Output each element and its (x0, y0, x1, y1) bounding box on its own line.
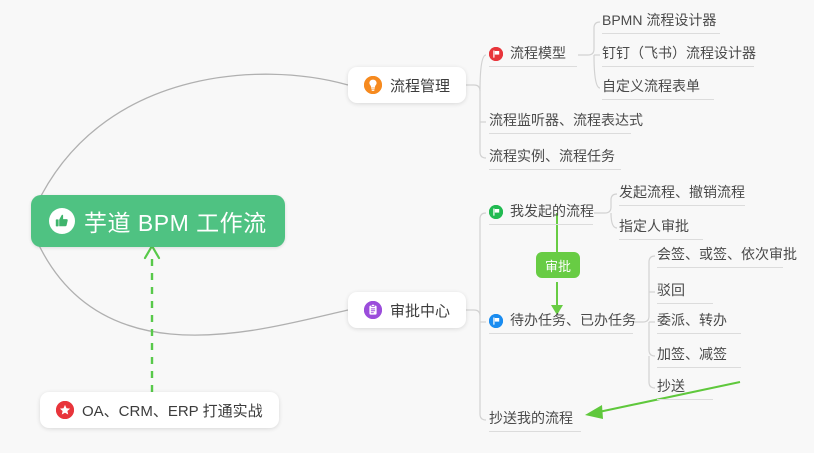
branch-label: 流程管理 (390, 75, 450, 96)
node-process-model[interactable]: 流程模型 (489, 45, 577, 67)
node-todo-done-tasks[interactable]: 待办任务、已办任务 (489, 312, 633, 334)
node-label: 加签、减签 (657, 346, 727, 363)
node-process-instance-task[interactable]: 流程实例、流程任务 (489, 148, 621, 170)
annotation-approval-chip: 审批 (536, 252, 580, 278)
node-label: 我发起的流程 (510, 203, 594, 220)
branch-process-management[interactable]: 流程管理 (348, 67, 466, 103)
node-label: 发起流程、撤销流程 (619, 184, 745, 201)
node-label: 驳回 (657, 282, 685, 299)
node-label: 自定义流程表单 (602, 78, 700, 95)
card-label: OA、CRM、ERP 打通实战 (82, 400, 263, 421)
node-label: 待办任务、已办任务 (510, 312, 636, 329)
node-designated-approver[interactable]: 指定人审批 (619, 218, 703, 240)
connector-initiated-trunk (594, 194, 617, 213)
node-label: 流程模型 (510, 45, 566, 62)
connector-model-trunk (578, 22, 600, 55)
cc-link-arrowhead (585, 405, 603, 419)
connector-ac-to-initiated (480, 213, 486, 316)
connector-pm-to-process-model (480, 55, 486, 91)
node-label: 指定人审批 (619, 218, 689, 235)
connector-root-to-approval-center (36, 239, 348, 335)
node-countersign-orsign-sequential[interactable]: 会签、或签、依次审批 (657, 246, 783, 268)
branch-approval-center[interactable]: 审批中心 (348, 292, 466, 328)
node-label: BPMN 流程设计器 (602, 12, 716, 29)
connector-ac-trunk (465, 310, 486, 420)
clipboard-icon (364, 301, 382, 319)
card-integration[interactable]: OA、CRM、ERP 打通实战 (40, 392, 279, 428)
node-label: 钉钉（飞书）流程设计器 (602, 45, 756, 62)
node-label: 流程监听器、流程表达式 (489, 112, 643, 129)
node-label: 抄送我的流程 (489, 410, 573, 427)
connector-todo-trunk (634, 256, 655, 322)
root-node[interactable]: 芋道 BPM 工作流 (31, 195, 285, 247)
star-icon (56, 401, 74, 419)
connector-pm-trunk (465, 85, 486, 158)
node-cc-to-me-process[interactable]: 抄送我的流程 (489, 410, 581, 432)
node-custom-process-form[interactable]: 自定义流程表单 (602, 78, 714, 100)
node-dingtalk-feishu-designer[interactable]: 钉钉（飞书）流程设计器 (602, 45, 754, 67)
connector-root-to-process-management (36, 74, 348, 206)
connector-initiated-to-designated (611, 213, 617, 228)
node-my-initiated-process[interactable]: 我发起的流程 (489, 203, 593, 225)
thumbs-up-icon (49, 208, 75, 234)
node-add-remove-sign[interactable]: 加签、减签 (657, 346, 741, 368)
node-delegate-transfer[interactable]: 委派、转办 (657, 312, 741, 334)
root-label: 芋道 BPM 工作流 (84, 204, 267, 238)
connector-todo-to-addsign (649, 322, 655, 356)
node-label: 委派、转办 (657, 312, 727, 329)
mindmap-canvas: 芋道 BPM 工作流 流程管理 审批中心 (0, 0, 814, 453)
node-start-cancel-process[interactable]: 发起流程、撤销流程 (619, 184, 745, 206)
lightbulb-icon (364, 76, 382, 94)
flag-icon-blue (489, 314, 503, 328)
node-carbon-copy[interactable]: 抄送 (657, 378, 713, 400)
node-bpmn-designer[interactable]: BPMN 流程设计器 (602, 12, 720, 34)
node-label: 会签、或签、依次审批 (657, 246, 797, 263)
node-reject[interactable]: 驳回 (657, 282, 713, 304)
connector-todo-to-cc (649, 356, 655, 388)
flag-icon-red (489, 47, 503, 61)
integration-arrowhead-up (145, 246, 159, 258)
connector-model-to-custom-form (594, 55, 600, 88)
annotation-label: 审批 (545, 256, 571, 275)
node-label: 流程实例、流程任务 (489, 148, 615, 165)
branch-label: 审批中心 (390, 300, 450, 321)
node-process-listener-expression[interactable]: 流程监听器、流程表达式 (489, 112, 631, 134)
flag-icon-green (489, 205, 503, 219)
node-label: 抄送 (657, 378, 685, 395)
